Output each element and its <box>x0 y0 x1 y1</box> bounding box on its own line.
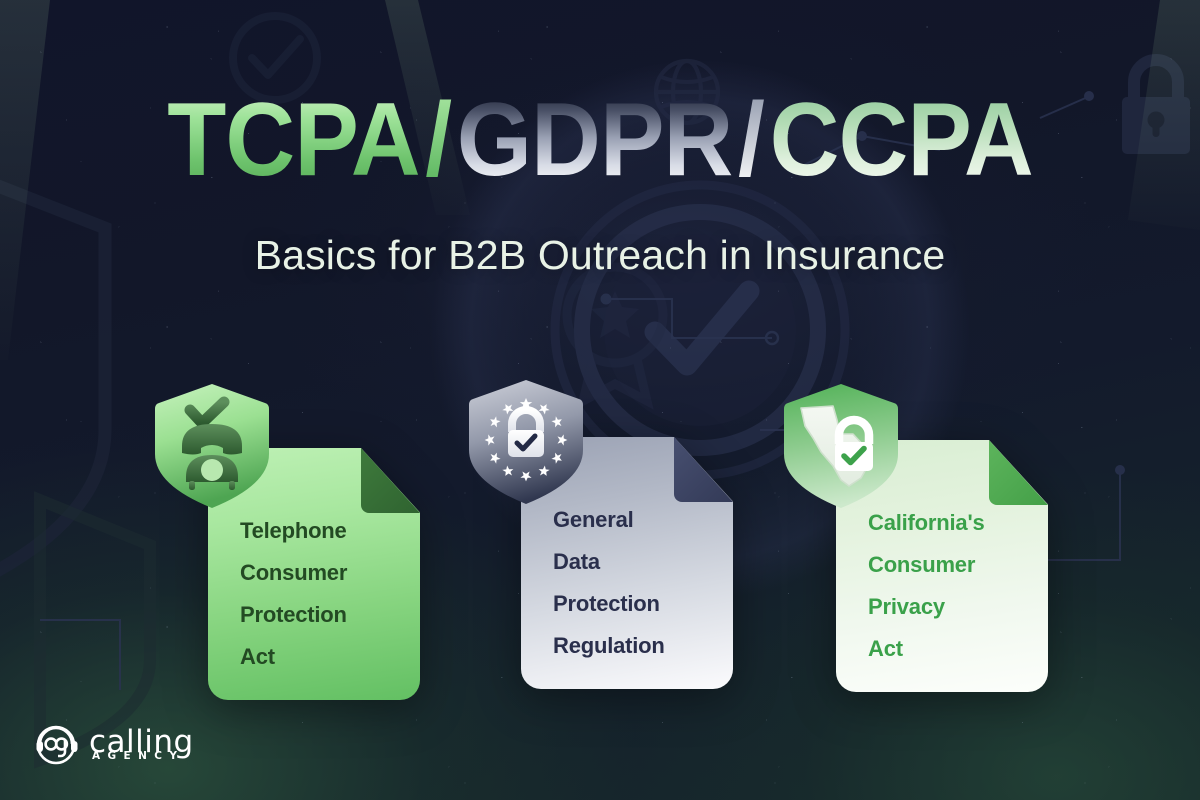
card-ccpa-line-2: Consumer <box>868 544 1036 586</box>
card-tcpa-labels: Telephone Consumer Protection Act <box>240 510 408 678</box>
page-title: TCPA/GDPR/CCPA <box>42 88 1158 192</box>
brand-logo[interactable]: calling AGENCY <box>34 722 194 766</box>
card-gdpr-line-4: Regulation <box>553 625 721 667</box>
shield-eu-stars-lock-icon <box>466 378 586 506</box>
card-tcpa-line-4: Act <box>240 636 408 678</box>
title-word-gdpr: GDPR <box>457 88 733 192</box>
card-ccpa-line-3: Privacy <box>868 586 1036 628</box>
title-separator-1: / <box>420 88 457 192</box>
card-gdpr-labels: General Data Protection Regulation <box>553 499 721 667</box>
card-ccpa-line-4: Act <box>868 628 1036 670</box>
shield-california-lock-icon <box>781 382 901 510</box>
card-tcpa-line-3: Protection <box>240 594 408 636</box>
title-separator-2: / <box>732 88 769 192</box>
headset-monogram-icon <box>34 722 80 766</box>
card-tcpa-line-1: Telephone <box>240 510 408 552</box>
logo-subtitle: AGENCY <box>92 751 194 762</box>
card-gdpr-line-3: Protection <box>553 583 721 625</box>
title-word-tcpa: TCPA <box>167 88 419 192</box>
shield-outline-icon <box>40 500 150 760</box>
card-gdpr-line-2: Data <box>553 541 721 583</box>
poster-canvas: TCPA/GDPR/CCPA Basics for B2B Outreach i… <box>0 0 1200 800</box>
page-subtitle: Basics for B2B Outreach in Insurance <box>0 232 1200 278</box>
card-tcpa-line-2: Consumer <box>240 552 408 594</box>
card-ccpa-labels: California's Consumer Privacy Act <box>868 502 1036 670</box>
title-word-ccpa: CCPA <box>770 88 1033 192</box>
shield-phone-check-icon <box>152 382 272 510</box>
